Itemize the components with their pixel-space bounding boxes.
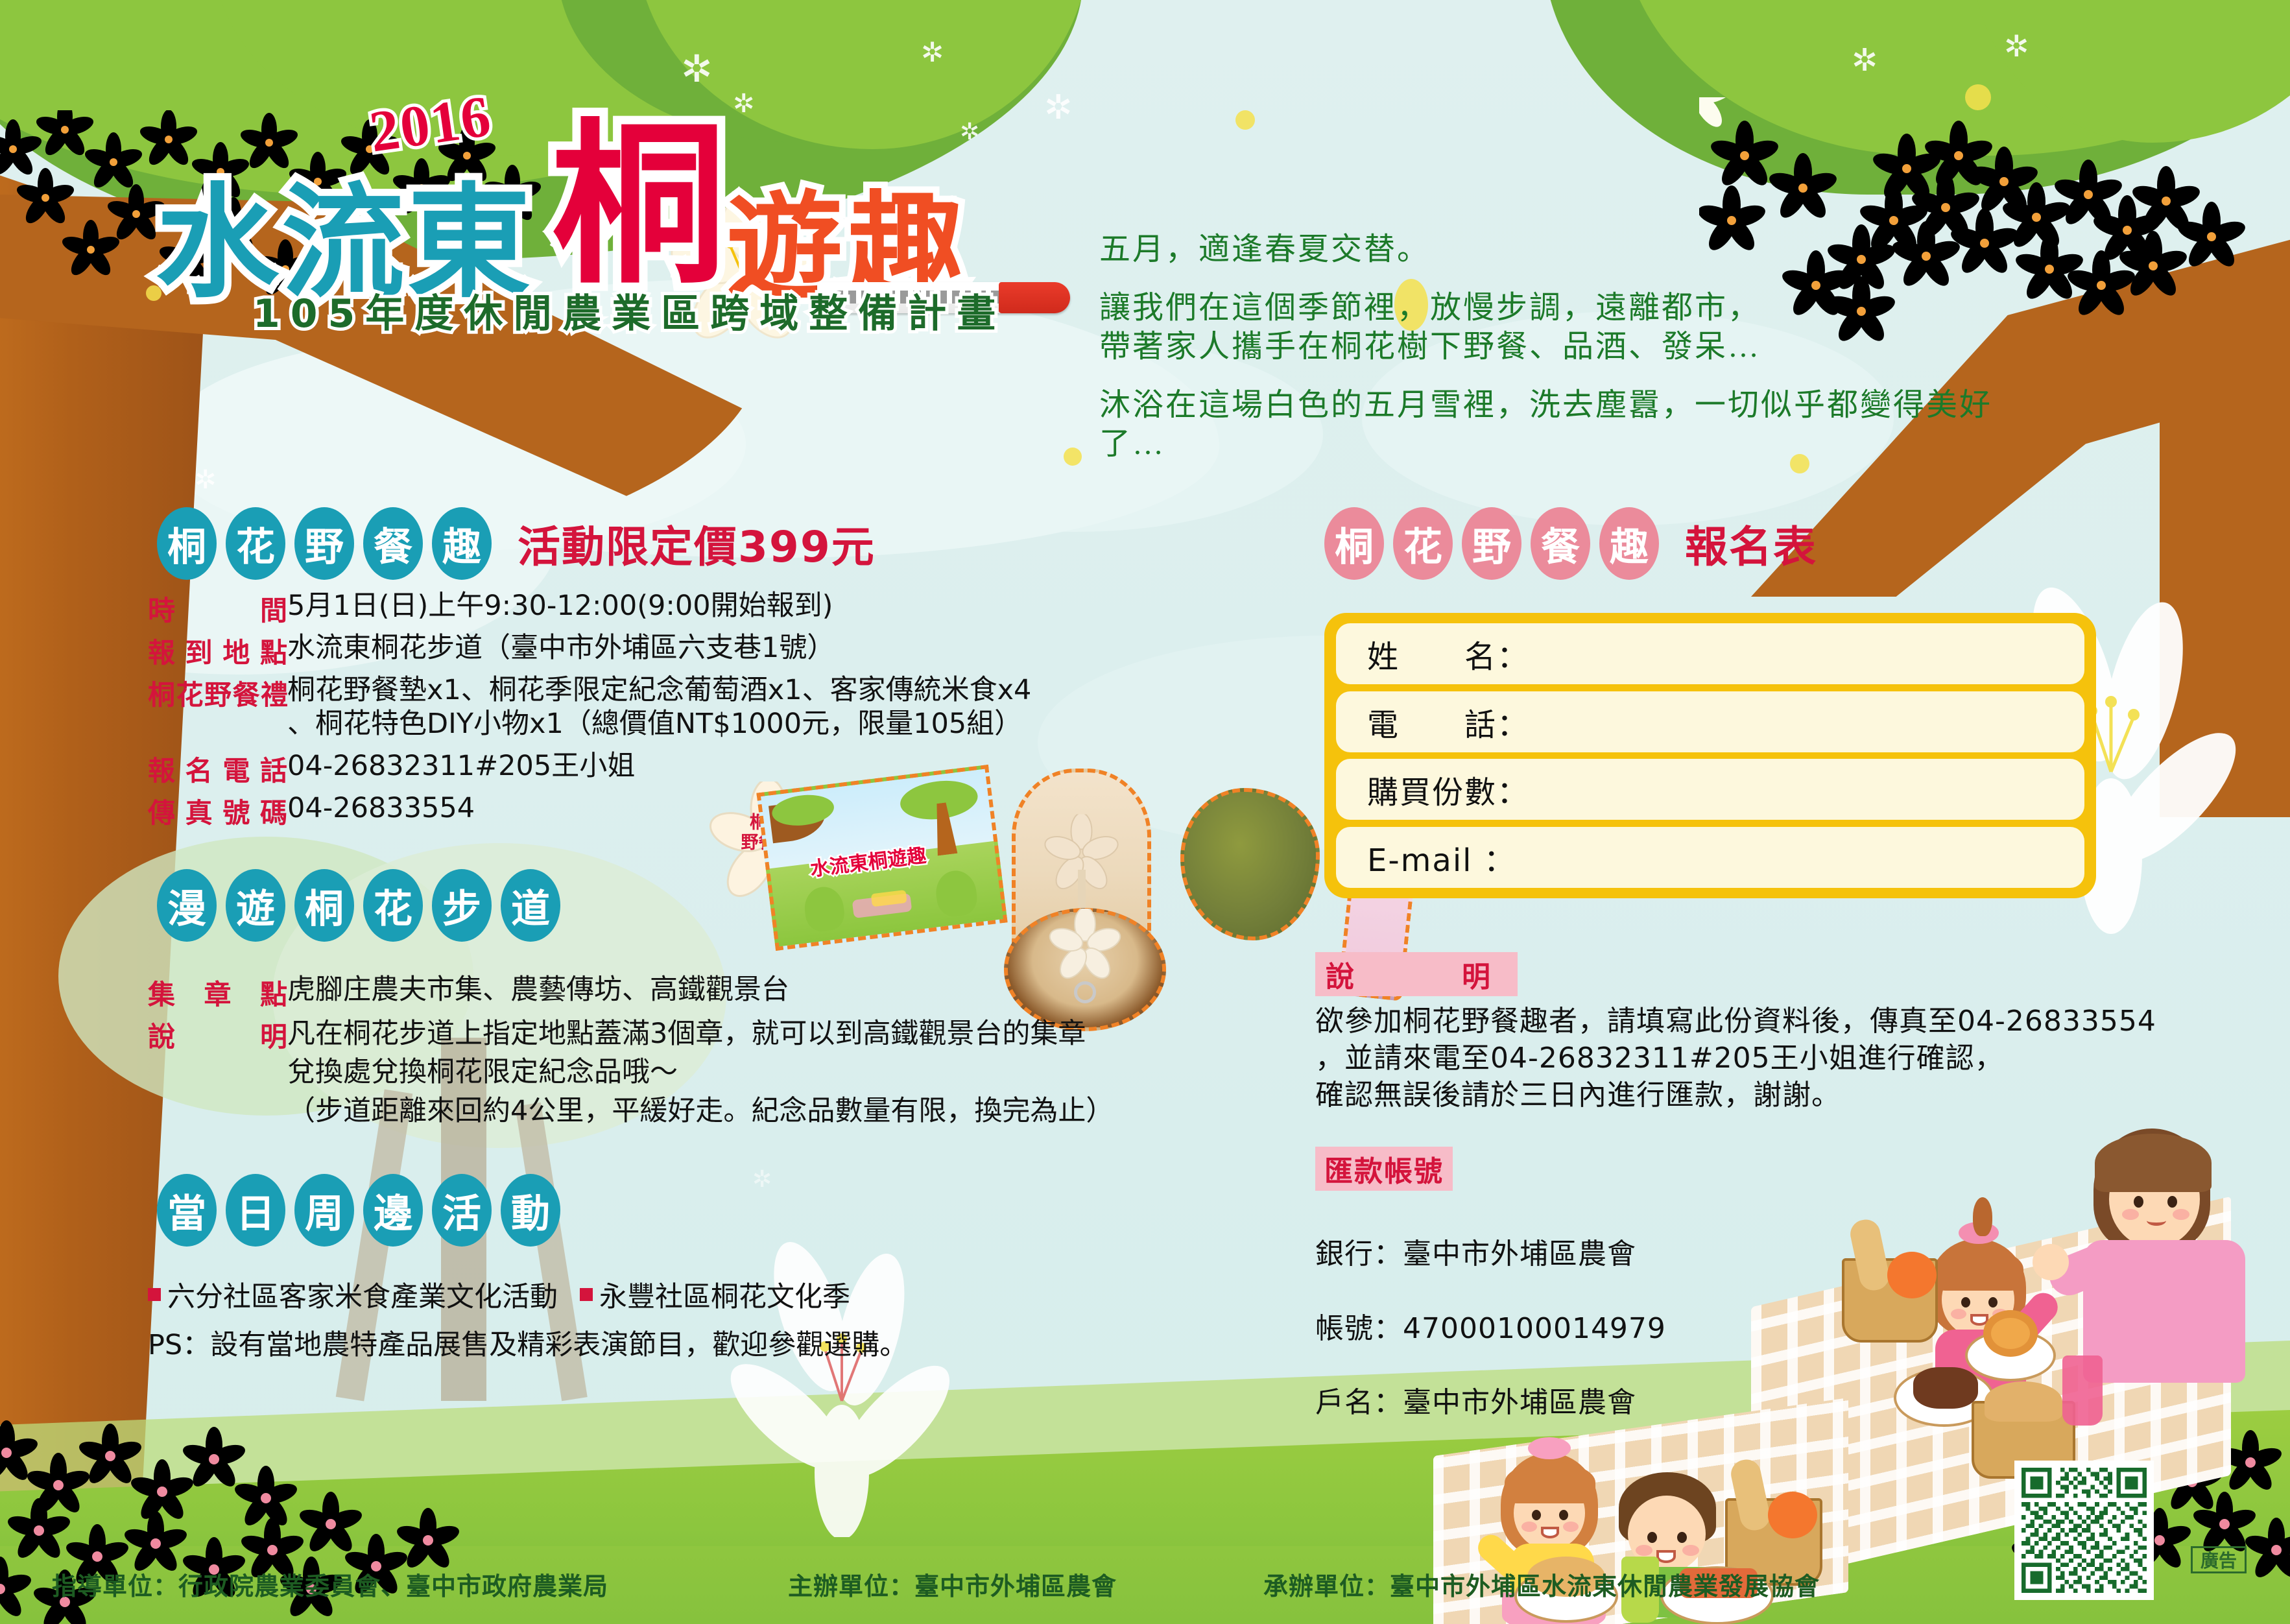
- subtitle: 105年度休閒農業區跨域整備計畫: [253, 282, 1006, 339]
- sparkle-flower-icon: ✲: [681, 51, 713, 88]
- heading-char: 遊: [226, 869, 285, 942]
- heading-char: 邊: [363, 1174, 423, 1247]
- qr-code-image: [2022, 1468, 2147, 1593]
- qr-code[interactable]: [2014, 1461, 2154, 1600]
- section-heading-picnic: 桐 花 野 餐 趣 活動限定價399元: [157, 507, 876, 580]
- heading-char: 趣: [432, 507, 492, 580]
- footer-host-unit: 主辦單位：臺中市外埔區農會: [788, 1566, 1117, 1602]
- boy-eye: [1647, 1532, 1657, 1543]
- intro-text-block: 五月，適逢春夏交替。 讓我們在這個季節裡，放慢步調，遠離都市， 帶著家人攜手在桐…: [1099, 230, 2040, 483]
- footer-guide-unit: 指導單位：行政院農業委員會、臺中市政府農業局: [52, 1566, 608, 1602]
- heading-char: 桐: [157, 507, 217, 580]
- events-list: 六分社區客家米食產業文化活動 永豐社區桐花文化季 PS：設有當地農特產品展售及精…: [148, 1274, 1250, 1363]
- boy-eye: [1677, 1532, 1687, 1543]
- detail-value: 04-26832311#205王小姐: [287, 749, 635, 783]
- mother-hair-front: [2095, 1134, 2212, 1192]
- sparkle-flower-icon: ✲: [921, 39, 944, 66]
- sparkle-flower-icon: ✲: [2004, 31, 2029, 61]
- detail-row: 說明 凡在桐花步道上指定地點蓋滿3個章，就可以到高鐵觀景台的集章 兌換處兌換桐花…: [148, 1015, 1419, 1130]
- light-dot: [1064, 448, 1082, 466]
- mother-cheek: [2173, 1209, 2189, 1220]
- title-main-center: 桐: [551, 117, 726, 292]
- heading-char: 道: [501, 869, 560, 942]
- registration-form[interactable]: 姓 名： 電 話： 購買份數： E-mail ：: [1324, 613, 2096, 898]
- detail-value: 04-26833554: [287, 791, 475, 825]
- section-heading-trail: 漫 遊 桐 花 步 道: [157, 869, 569, 942]
- detail-value: 桐花野餐墊x1、桐花季限定紀念葡萄酒x1、客家傳統米食x4 、桐花特色DIY小物…: [287, 673, 1031, 741]
- detail-label: 報名電話: [148, 749, 287, 789]
- detail-label: 桐花野餐禮: [148, 673, 287, 713]
- girl2-bow-icon: [1528, 1437, 1571, 1459]
- heading-char: 活: [432, 1174, 492, 1247]
- heading-char: 桐: [294, 869, 354, 942]
- donut-icon: [1983, 1310, 2038, 1357]
- section-heading-form: 桐 花 野 餐 趣 報名表: [1324, 507, 1817, 580]
- heading-char: 餐: [363, 507, 423, 580]
- detail-label: 報到地點: [148, 631, 287, 671]
- girl2-cheek: [1563, 1522, 1579, 1532]
- bank-label: 銀行：: [1315, 1237, 1403, 1271]
- form-field-name[interactable]: 姓 名：: [1336, 623, 2084, 684]
- ad-label: 廣告: [2191, 1546, 2247, 1573]
- bullet-square-icon: [580, 1288, 593, 1301]
- girl2-eye: [1559, 1510, 1568, 1520]
- chocolate-cluster: [1913, 1367, 1978, 1409]
- heading-char: 周: [294, 1174, 354, 1247]
- title-block: 2016 水流東 桐 遊趣: [156, 104, 1077, 292]
- heading-char: 桐: [1324, 507, 1384, 580]
- bread-pile-icon: [1985, 1381, 2062, 1422]
- heading-char: 動: [501, 1174, 560, 1247]
- boy-cheek: [1636, 1545, 1652, 1556]
- detail-row: 時間 5月1日(日)上午9:30-12:00(9:00開始報到): [148, 589, 1250, 628]
- notes-block: 說 明 欲參加桐花野餐趣者，請填寫此份資料後，傳真至04-26833554 ，並…: [1315, 952, 2256, 1114]
- heading-char: 花: [1393, 507, 1453, 580]
- girl2-mouth: [1541, 1527, 1559, 1538]
- sparkle-flower-icon: ✲: [752, 1167, 772, 1191]
- heading-char: 趣: [1599, 507, 1659, 580]
- detail-row: 集章點 虎腳庄農夫市集、農藝傳坊、高鐵觀景台: [148, 973, 1419, 1012]
- detail-value: 水流東桐花步道（臺中市外埔區六支巷1號）: [287, 631, 835, 665]
- detail-label: 集章點: [148, 973, 287, 1012]
- girl-eye: [1988, 1297, 1998, 1308]
- footer-organizer-unit: 承辦單位：臺中市外埔區水流東休閒農業發展協會: [1263, 1566, 1820, 1602]
- notes-tag: 說 明: [1315, 952, 1518, 996]
- holder-label: 戶名：: [1315, 1386, 1403, 1419]
- bullet-square-icon: [148, 1288, 161, 1301]
- girl-ponytail: [1973, 1197, 1992, 1236]
- detail-label: 時間: [148, 589, 287, 628]
- detail-label: 傳真號碼: [148, 791, 287, 831]
- detail-label: 說明: [148, 1015, 287, 1055]
- section-heading-events: 當 日 周 邊 活 動: [157, 1174, 569, 1247]
- account-value: 47000100014979: [1403, 1312, 1666, 1345]
- event-item: 永豐社區桐花文化季: [599, 1274, 850, 1315]
- holder-value: 臺中市外埔區農會: [1403, 1386, 1636, 1419]
- girl2-cheek: [1521, 1522, 1537, 1532]
- mother-eye: [2134, 1196, 2143, 1208]
- heading-char: 野: [1462, 507, 1521, 580]
- event-item: 六分社區客家米食產業文化活動: [167, 1274, 558, 1315]
- account-label: 帳號：: [1315, 1312, 1403, 1345]
- price-label: 活動限定價399元: [518, 512, 876, 575]
- photo-picnic-mat: 水流東桐遊趣: [756, 765, 1007, 951]
- light-dot: [1235, 110, 1255, 130]
- apple-icon: [1768, 1492, 1817, 1538]
- field-label: 電 話：: [1367, 699, 1529, 745]
- girl2-eye: [1532, 1510, 1541, 1520]
- boy-mouth: [1656, 1550, 1676, 1563]
- events-bullets-row: 六分社區客家米食產業文化活動 永豐社區桐花文化季: [148, 1274, 1250, 1315]
- heading-char: 步: [432, 869, 492, 942]
- intro-line-1: 五月，適逢春夏交替。: [1099, 230, 2040, 269]
- detail-value: 凡在桐花步道上指定地點蓋滿3個章，就可以到高鐵觀景台的集章 兌換處兌換桐花限定紀…: [287, 1015, 1114, 1130]
- sparkle-flower-icon: ✲: [195, 467, 217, 493]
- intro-line-3: 沐浴在這場白色的五月雪裡，洗去塵囂，一切似乎都變得美好了…: [1099, 386, 2040, 464]
- events-ps: PS：設有當地農特產品展售及精彩表演節目，歡迎參觀選購。: [148, 1322, 1250, 1363]
- boy-cheek: [1682, 1545, 1699, 1556]
- girl2-bangs: [1505, 1462, 1595, 1503]
- sparkle-flower-icon: ✲: [1852, 45, 1878, 77]
- field-label: 姓 名：: [1367, 631, 1529, 676]
- detail-value: 虎腳庄農夫市集、農藝傳坊、高鐵觀景台: [287, 973, 789, 1007]
- detail-value: 5月1日(日)上午9:30-12:00(9:00開始報到): [287, 589, 833, 623]
- intro-line-2: 讓我們在這個季節裡，放慢步調，遠離都市， 帶著家人攜手在桐花樹下野餐、品酒、發呆…: [1099, 289, 2040, 366]
- form-field-email[interactable]: E-mail ：: [1336, 827, 2084, 888]
- remittance-tag: 匯款帳號: [1315, 1147, 1453, 1191]
- mother-cheek: [2122, 1209, 2139, 1220]
- field-label: E-mail ：: [1367, 835, 1516, 880]
- girl-bangs: [1933, 1248, 2023, 1291]
- apple-icon: [1887, 1252, 1937, 1298]
- form-field-quantity[interactable]: 購買份數：: [1336, 759, 2084, 820]
- mother-mouth: [2147, 1215, 2166, 1226]
- girl-cheek: [1951, 1309, 1966, 1319]
- form-field-phone[interactable]: 電 話：: [1336, 691, 2084, 752]
- mother-eye: [2167, 1196, 2177, 1208]
- field-label: 購買份數：: [1367, 767, 1529, 812]
- poster-canvas: ✲ ✲ ✲ ✲ ✲ ✲ ✲ ✲ ✲ ✲: [0, 0, 2290, 1624]
- notes-body: 欲參加桐花野餐趣者，請填寫此份資料後，傳真至04-26833554 ，並請來電至…: [1315, 1003, 2256, 1114]
- bank-value: 臺中市外埔區農會: [1403, 1237, 1636, 1271]
- girl-eye: [1961, 1297, 1970, 1308]
- heading-char: 當: [157, 1174, 217, 1247]
- detail-row: 桐花野餐禮 桐花野餐墊x1、桐花季限定紀念葡萄酒x1、客家傳統米食x4 、桐花特…: [148, 673, 1250, 741]
- heading-char: 餐: [1531, 507, 1590, 580]
- heading-char: 花: [363, 869, 423, 942]
- heading-char: 日: [226, 1174, 285, 1247]
- form-heading-suffix: 報名表: [1685, 512, 1817, 575]
- heading-char: 漫: [157, 869, 217, 942]
- trail-details: 集章點 虎腳庄農夫市集、農藝傳坊、高鐵觀景台 說明 凡在桐花步道上指定地點蓋滿3…: [148, 973, 1419, 1133]
- heading-char: 花: [226, 507, 285, 580]
- heading-char: 野: [294, 507, 354, 580]
- juice-glass: [2062, 1355, 2103, 1426]
- detail-row: 報到地點 水流東桐花步道（臺中市外埔區六支巷1號）: [148, 631, 1250, 671]
